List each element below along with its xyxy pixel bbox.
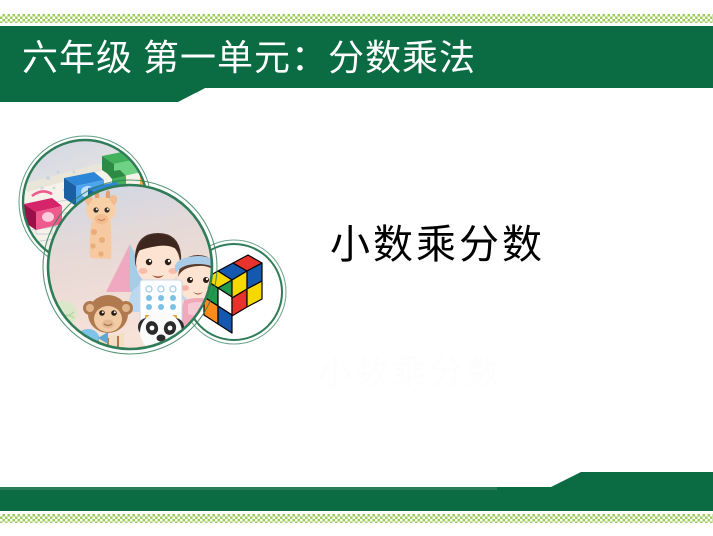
footer-bar — [0, 487, 713, 511]
slide-main-title: 小数乘分数 — [330, 212, 545, 270]
header-step — [0, 88, 205, 102]
header-title: 六年级 第一单元：分数乘法 — [22, 30, 476, 86]
top-checker-band — [0, 14, 713, 23]
presentation-slide: 六年级 第一单元：分数乘法 — [0, 0, 713, 536]
illustration-collage — [2, 132, 294, 360]
footer-bar-highlight — [0, 487, 497, 490]
slide-ghost-title: 小数乘分数 — [318, 345, 503, 394]
bottom-checker-band — [0, 514, 713, 523]
